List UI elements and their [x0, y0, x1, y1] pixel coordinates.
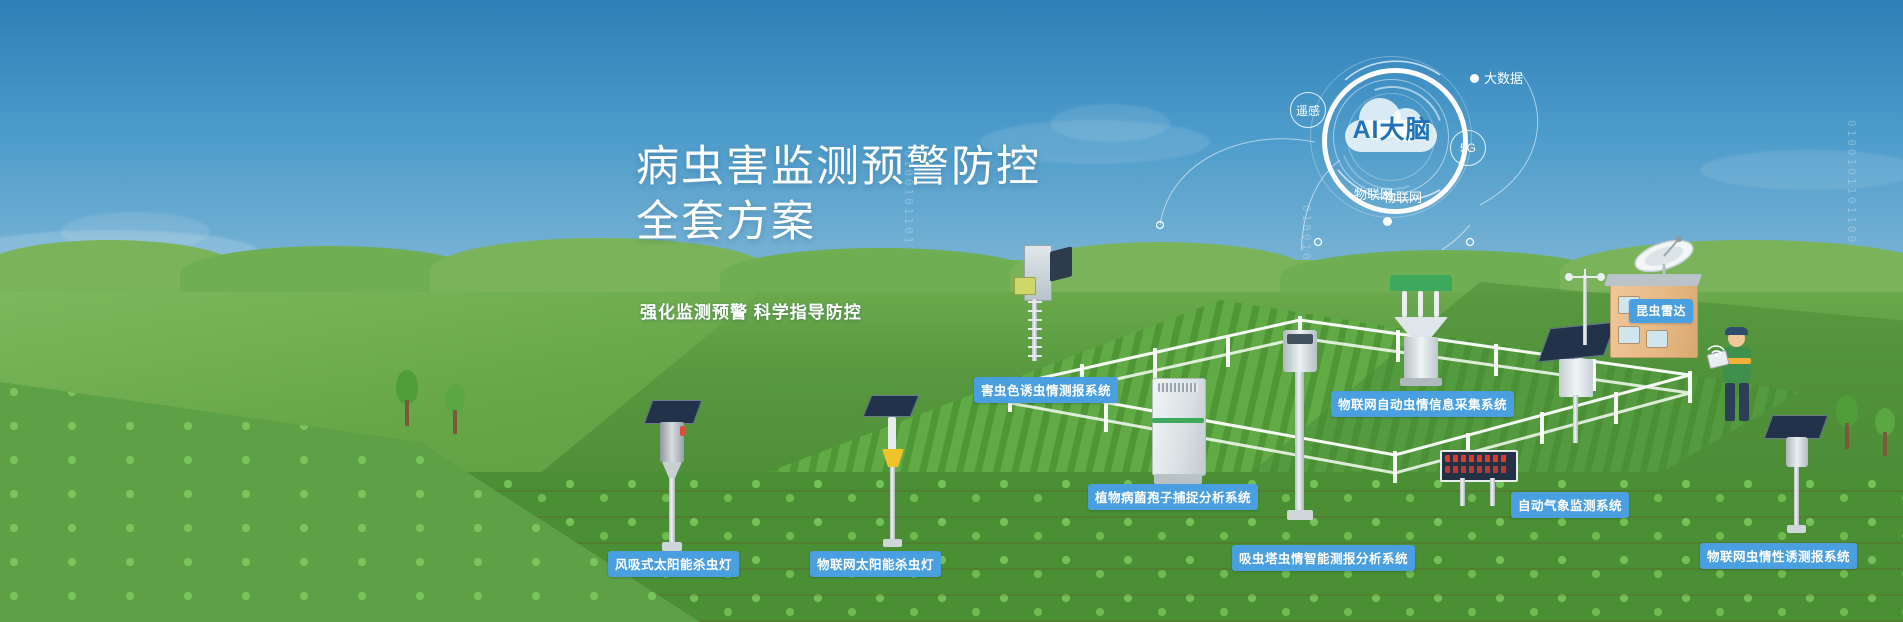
wifi-icon — [1704, 334, 1734, 358]
device-label-iot-auto-pest-info-collection-system[interactable]: 物联网自动虫情信息采集系统 — [1331, 391, 1514, 417]
device-label-pest-color-lure-forecast-system[interactable]: 害虫色诱虫情测报系统 — [974, 377, 1118, 403]
collector-lamp-tube — [1402, 291, 1407, 317]
tree-icon — [440, 384, 470, 442]
weather-cabinet — [1559, 359, 1593, 397]
page-title-line2: 全套方案 — [636, 195, 816, 250]
node-dot-big-data[interactable] — [1470, 74, 1479, 83]
node-bubble-remote-sensing[interactable]: 遥感 — [1290, 92, 1326, 128]
lamp-collector — [882, 449, 904, 467]
lamp-pole — [669, 478, 675, 546]
promo-banner: 010010110110010 0100101101100101 0100101… — [0, 0, 1903, 622]
spore-cabinet-stripe — [1152, 418, 1204, 423]
device-label-plant-pathogen-spore-capture-analysis-system[interactable]: 植物病菌孢子捕捉分析系统 — [1088, 484, 1258, 510]
device-label-iot-pest-pheromone-forecast-system[interactable]: 物联网虫情性诱测报系统 — [1700, 543, 1857, 569]
spore-cabinet-base — [1154, 474, 1202, 484]
device-iot-solar-insect-lamp[interactable] — [862, 395, 932, 560]
lure-panel-dark — [1050, 246, 1072, 281]
lamp-indicator — [680, 426, 685, 436]
pheromone-pole — [1794, 467, 1799, 527]
device-label-iot-solar-insect-lamp[interactable]: 物联网太阳能杀虫灯 — [810, 551, 941, 577]
lure-trap-yellow — [1014, 277, 1036, 295]
radar-building-window — [1646, 330, 1668, 348]
radar-building-window — [1618, 326, 1640, 344]
farmer-with-tablet — [1710, 330, 1770, 430]
spore-cabinet-vent — [1158, 383, 1198, 392]
node-label-iot-text: 物联网 — [1383, 187, 1422, 206]
lamp-funnel — [662, 462, 682, 478]
radar-dish-icon — [1616, 234, 1736, 284]
device-iot-auto-pest-info-collection-system[interactable] — [1388, 275, 1468, 390]
node-bubble-5g[interactable]: 5G — [1450, 130, 1486, 166]
node-label-remote-sensing: 遥感 — [1296, 102, 1320, 119]
lamp-base — [883, 539, 902, 547]
collector-canopy — [1390, 275, 1452, 291]
suction-tower-intake — [1287, 334, 1313, 344]
page-subtitle: 强化监测预警 科学指导防控 — [640, 298, 862, 323]
collector-lamp-tube — [1434, 291, 1439, 317]
pheromone-trap-body — [1786, 437, 1808, 467]
weather-mast — [1573, 395, 1578, 443]
device-label-insect-radar[interactable]: 昆虫雷达 — [1629, 299, 1693, 323]
lure-ladder — [1028, 301, 1042, 359]
page-title-line1: 病虫害监测预警防控 — [636, 140, 1041, 195]
collector-body — [1404, 337, 1438, 379]
suction-tower-mast — [1295, 372, 1304, 514]
solar-panel-icon — [644, 400, 703, 424]
lamp-tube — [888, 417, 896, 451]
tree-icon — [1830, 395, 1864, 457]
device-pest-color-lure-forecast-system[interactable] — [992, 245, 1082, 370]
led-display-board[interactable] — [1440, 450, 1520, 506]
farmer-legs — [1739, 383, 1749, 421]
collector-funnel — [1394, 317, 1448, 339]
device-label-auto-weather-monitoring-system[interactable]: 自动气象监测系统 — [1511, 492, 1629, 518]
device-plant-pathogen-spore-capture-analysis-system[interactable] — [1152, 378, 1222, 498]
node-label-5g: 5G — [1460, 141, 1476, 155]
device-wind-suction-solar-insect-lamp[interactable] — [640, 400, 710, 560]
lamp-base — [662, 542, 682, 551]
ai-hub: AI大脑 遥感 5G 大数据 物联网 — [1140, 20, 1560, 250]
pheromone-solar-panel — [1764, 415, 1829, 439]
farmer-legs — [1725, 383, 1735, 421]
ai-core-label: AI大脑 — [1350, 110, 1434, 146]
solar-panel-icon — [863, 395, 920, 417]
device-label-suction-tower-pest-intelligent-forecast-analysis-system[interactable]: 吸虫塔虫情智能测报分析系统 — [1232, 545, 1415, 571]
pheromone-base — [1787, 525, 1806, 533]
tree-icon — [390, 370, 424, 434]
collector-base — [1400, 378, 1442, 386]
tree-icon — [1870, 408, 1900, 464]
device-suction-tower-pest-intelligent-forecast-analysis-system[interactable] — [1275, 330, 1335, 530]
device-label-wind-suction-solar-insect-lamp[interactable]: 风吸式太阳能杀虫灯 — [608, 551, 739, 577]
collector-lamp-tube — [1418, 291, 1423, 317]
node-dot-iot[interactable] — [1383, 217, 1392, 226]
node-label-big-data: 大数据 — [1484, 68, 1523, 87]
suction-tower-base — [1287, 510, 1313, 520]
spore-cabinet — [1152, 378, 1206, 476]
lamp-pole — [890, 467, 895, 543]
